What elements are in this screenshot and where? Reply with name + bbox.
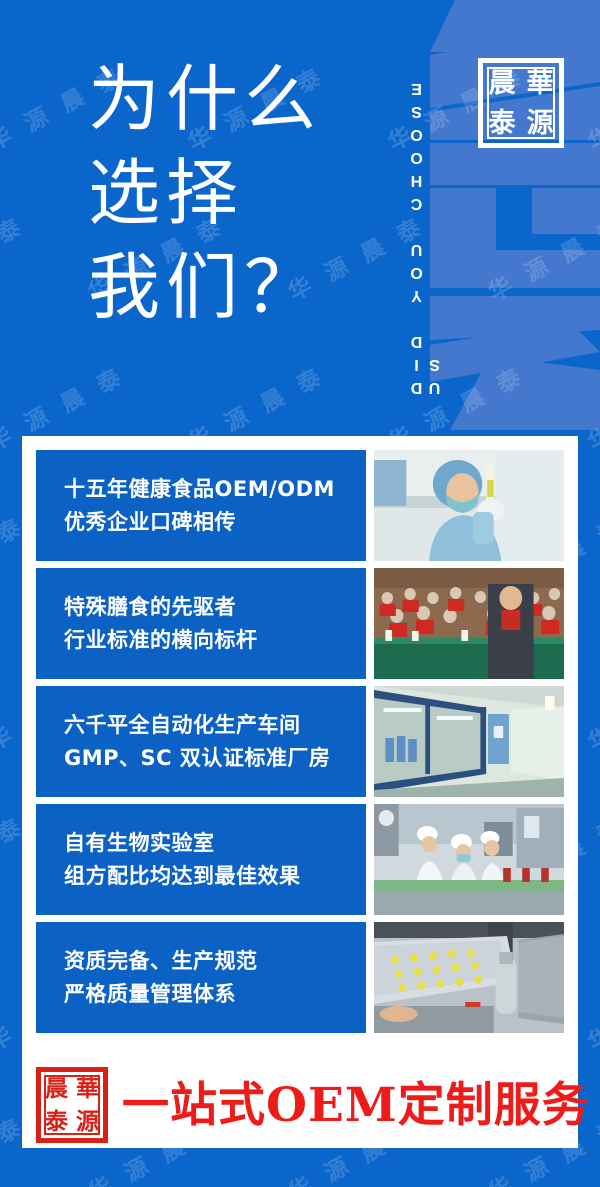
watermark-text: 华 源 晨 泰 [581, 957, 600, 1058]
feature-text-block: 特殊膳食的先驱者 行业标准的横向标杆 [36, 568, 366, 679]
seal-char-1: 晨 [45, 1077, 68, 1100]
feature-line-2: 组方配比均达到最佳效果 [64, 860, 366, 893]
cta-banner: 晨 華 泰 源 一站式OEM定制服务 [22, 1062, 578, 1148]
title-line-1: 为什么 [88, 52, 398, 146]
seal-char-2: 華 [527, 70, 554, 97]
poster-header: 为什么 选择 我们？ DID YOU CHOOSE US 晨 華 泰 源 [0, 0, 600, 430]
feature-row: 特殊膳食的先驱者 行业标准的横向标杆 [36, 568, 564, 679]
feature-photo-cleanroom-corridor [374, 686, 564, 797]
feature-text-block: 自有生物实验室 组方配比均达到最佳效果 [36, 804, 366, 915]
seal-char-3: 泰 [45, 1110, 68, 1133]
feature-text-block: 资质完备、生产规范 严格质量管理体系 [36, 922, 366, 1033]
feature-text-block: 十五年健康食品OEM/ODM 优秀企业口碑相传 [36, 450, 366, 561]
feature-row: 资质完备、生产规范 严格质量管理体系 [36, 922, 564, 1033]
seal-char-4: 源 [76, 1110, 99, 1133]
feature-line-2: 严格质量管理体系 [64, 978, 366, 1011]
features-list: 十五年健康食品OEM/ODM 优秀企业口碑相传 [36, 450, 564, 1033]
brand-seal-red-icon: 晨 華 泰 源 [36, 1067, 108, 1143]
feature-line-2: 优秀企业口碑相传 [64, 506, 366, 539]
title-line-2: 选择 [88, 146, 398, 240]
brand-seal-white-icon: 晨 華 泰 源 [478, 58, 564, 148]
feature-photo-conference-audience [374, 568, 564, 679]
feature-row: 六千平全自动化生产车间 GMP、SC 双认证标准厂房 [36, 686, 564, 797]
page-title: 为什么 选择 我们？ [88, 52, 398, 334]
feature-photo-lab-technician [374, 450, 564, 561]
feature-line-2: GMP、SC 双认证标准厂房 [64, 742, 366, 775]
feature-row: 十五年健康食品OEM/ODM 优秀企业口碑相传 [36, 450, 564, 561]
seal-char-3: 泰 [489, 110, 516, 137]
feature-photo-blister-packing-machine [374, 922, 564, 1033]
vertical-english-tagline: DID YOU CHOOSE US [408, 16, 442, 396]
feature-line-1: 自有生物实验室 [64, 827, 366, 860]
feature-text-block: 六千平全自动化生产车间 GMP、SC 双认证标准厂房 [36, 686, 366, 797]
feature-line-2: 行业标准的横向标杆 [64, 624, 366, 657]
seal-char-2: 華 [76, 1077, 99, 1100]
feature-line-1: 十五年健康食品OEM/ODM [64, 473, 366, 506]
feature-line-1: 六千平全自动化生产车间 [64, 709, 366, 742]
promotional-poster: 为什么 选择 我们？ DID YOU CHOOSE US 晨 華 泰 源 十五年… [0, 0, 600, 1187]
cta-banner-text: 一站式OEM定制服务 [122, 1082, 590, 1129]
seal-char-1: 晨 [489, 70, 516, 97]
features-panel: 十五年健康食品OEM/ODM 优秀企业口碑相传 [22, 436, 578, 1148]
feature-line-1: 资质完备、生产规范 [64, 945, 366, 978]
seal-char-4: 源 [527, 110, 554, 137]
feature-photo-production-line-workers [374, 804, 564, 915]
title-line-3: 我们？ [88, 240, 398, 334]
feature-line-1: 特殊膳食的先驱者 [64, 591, 366, 624]
feature-row: 自有生物实验室 组方配比均达到最佳效果 [36, 804, 564, 915]
watermark-text: 华 源 晨 泰 [581, 657, 600, 758]
